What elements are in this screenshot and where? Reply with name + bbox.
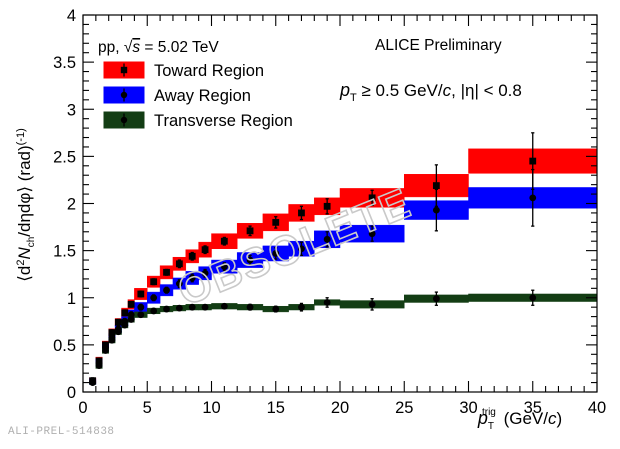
data-marker [163, 269, 170, 276]
data-marker [247, 304, 254, 311]
x-tick-label: 15 [267, 399, 285, 417]
alice-preliminary-label: ALICE Preliminary [375, 37, 502, 54]
data-marker [128, 316, 135, 323]
legend-label: Toward Region [154, 62, 264, 80]
data-marker [89, 379, 96, 386]
data-marker [137, 304, 144, 311]
y-tick-label: 1 [67, 290, 76, 308]
data-marker [189, 253, 196, 260]
y-tick-label: 0.5 [53, 337, 76, 355]
preliminary-id: ALI-PREL-514838 [8, 426, 115, 438]
data-marker [433, 207, 440, 214]
x-tick-label: 10 [202, 399, 220, 417]
y-tick-label: 0 [67, 384, 76, 402]
y-tick-label: 3 [67, 101, 76, 119]
y-axis-title: ⟨d2Nch/dηdφ⟩ (rad)(-1) [15, 128, 37, 282]
data-marker [272, 219, 279, 226]
x-tick-label: 40 [588, 399, 606, 417]
data-marker [137, 291, 144, 298]
data-marker [369, 301, 376, 308]
x-tick-label: 25 [395, 399, 413, 417]
alice-uematrig-plot: OBSOLETE 0510152025303540 00.511.522.533… [0, 0, 620, 449]
legend-marker [121, 117, 127, 123]
y-tick-label: 1.5 [53, 243, 76, 261]
data-marker [247, 227, 254, 234]
y-tick-label: 3.5 [53, 54, 76, 72]
data-marker [221, 238, 228, 245]
data-marker [137, 311, 144, 318]
x-tick-label: 0 [78, 399, 87, 417]
data-marker [529, 294, 536, 301]
data-marker [529, 194, 536, 201]
data-marker [529, 158, 536, 165]
y-axis-title-text: ⟨d2Nch/dηdφ⟩ (rad)(-1) [15, 128, 37, 282]
data-marker [221, 303, 228, 310]
data-marker [163, 287, 170, 294]
x-tick-label: 5 [143, 399, 152, 417]
data-marker [128, 301, 135, 308]
data-marker [272, 306, 279, 313]
data-marker [176, 305, 183, 312]
data-marker [102, 347, 109, 354]
figure-canvas: OBSOLETE 0510152025303540 00.511.522.533… [0, 0, 620, 449]
data-marker [96, 362, 103, 369]
data-marker [115, 328, 122, 335]
y-tick-label: 2.5 [53, 148, 76, 166]
legend-marker [121, 92, 127, 98]
data-marker [121, 322, 128, 329]
y-tick-label: 4 [67, 7, 76, 25]
data-marker [121, 309, 128, 316]
x-tick-label: 20 [331, 399, 349, 417]
data-marker [433, 295, 440, 302]
data-marker [202, 246, 209, 253]
system-energy-label: pp, √s = 5.02 TeV [98, 39, 219, 56]
data-marker [150, 278, 157, 285]
data-marker [324, 299, 331, 306]
x-tick-label: 30 [459, 399, 477, 417]
data-marker [150, 308, 157, 315]
data-marker [109, 337, 116, 344]
data-marker [298, 210, 305, 217]
data-marker [298, 304, 305, 311]
data-marker [163, 306, 170, 313]
legend-marker [121, 67, 127, 73]
data-marker [150, 294, 157, 301]
data-marker [115, 319, 122, 326]
legend-label: Transverse Region [154, 112, 293, 130]
legend-label: Away Region [154, 87, 251, 105]
y-tick-label: 2 [67, 196, 76, 214]
data-marker [433, 182, 440, 189]
